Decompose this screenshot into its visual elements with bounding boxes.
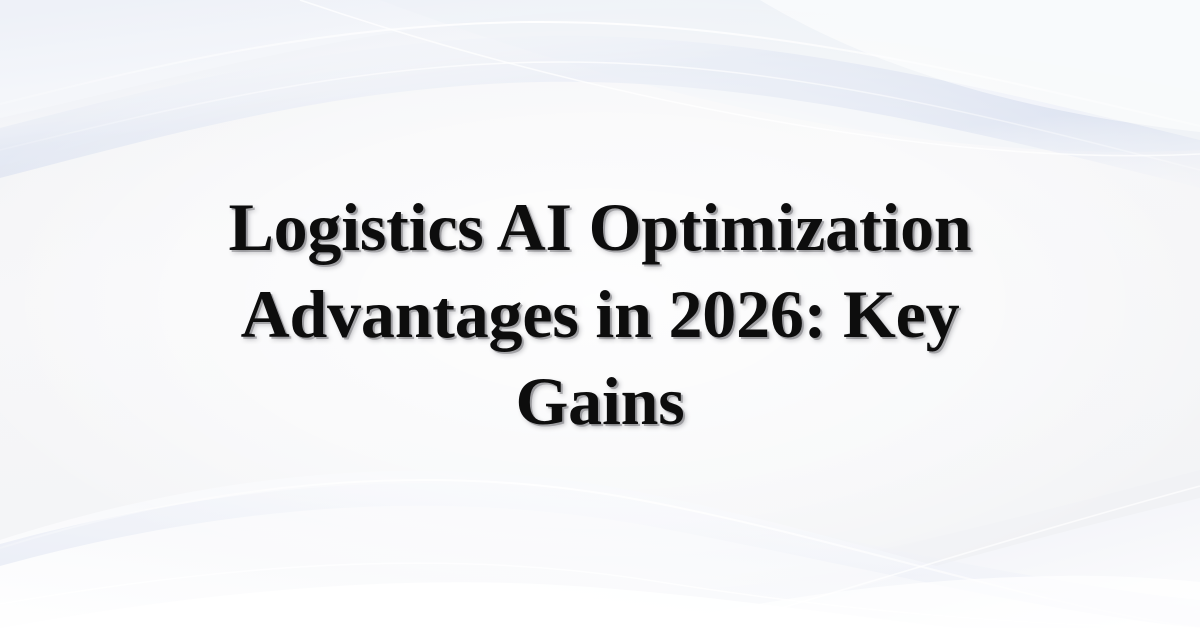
page-title: Logistics AI Optimization Advantages in … [185, 184, 1015, 445]
social-share-banner: Logistics AI Optimization Advantages in … [0, 0, 1200, 628]
headline-container: Logistics AI Optimization Advantages in … [0, 0, 1200, 628]
